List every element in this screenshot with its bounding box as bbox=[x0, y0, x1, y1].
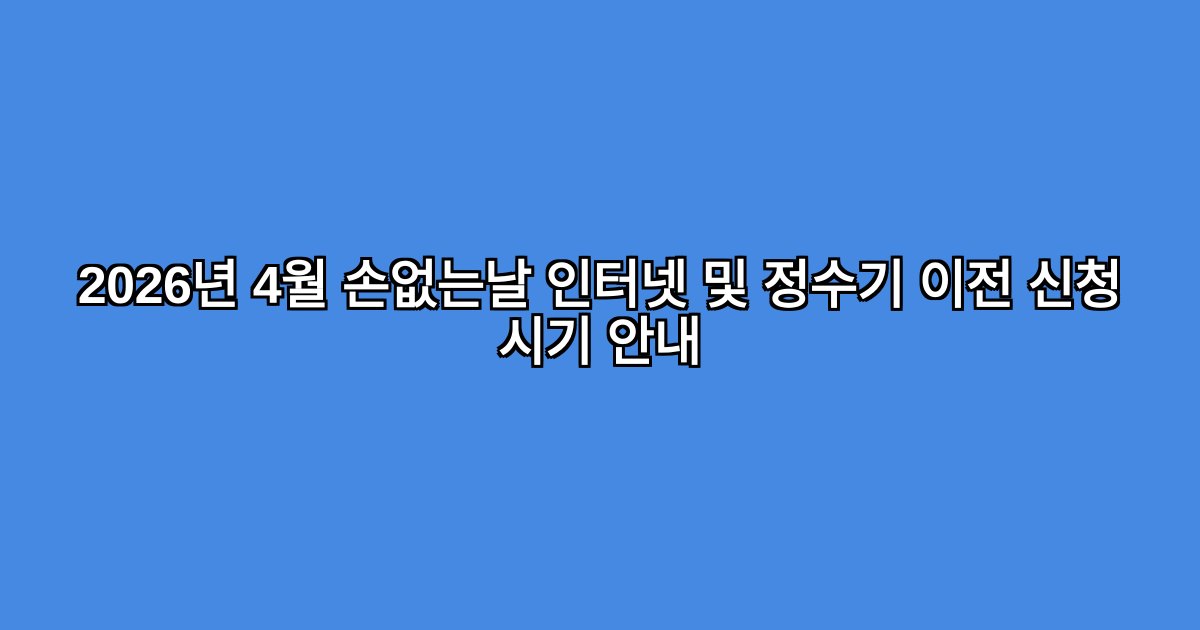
og-image-card: 2026년 4월 손없는날 인터넷 및 정수기 이전 신청 시기 안내 bbox=[0, 0, 1200, 630]
page-title: 2026년 4월 손없는날 인터넷 및 정수기 이전 신청 시기 안내 bbox=[70, 258, 1130, 372]
